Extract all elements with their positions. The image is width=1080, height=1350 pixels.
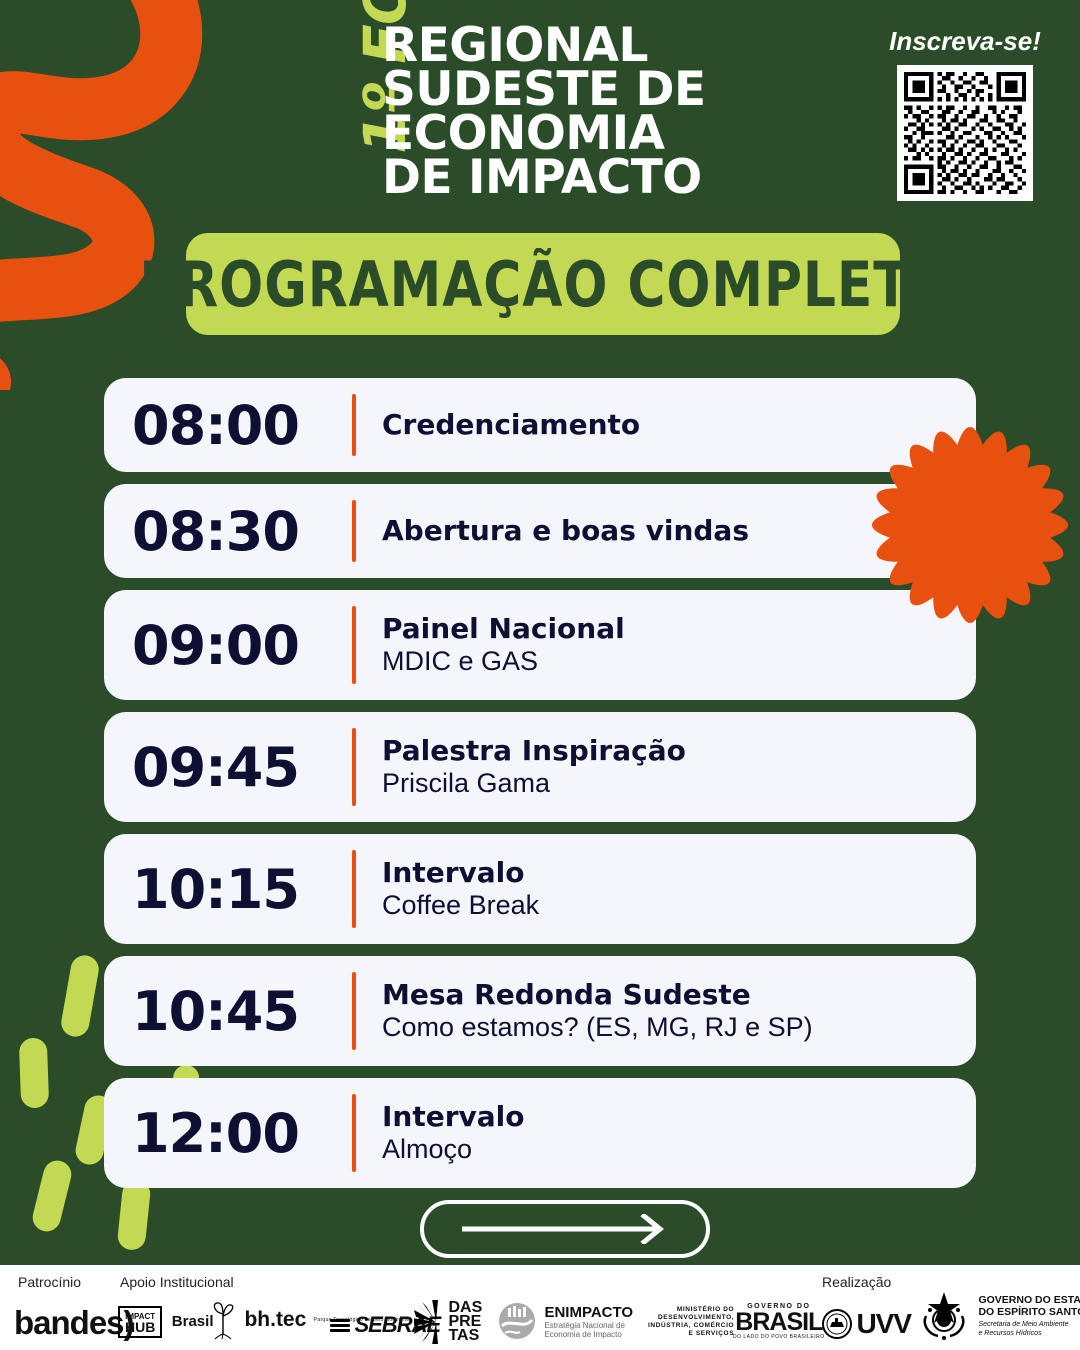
footer-label-support: Apoio Institucional bbox=[120, 1274, 234, 1290]
logo-enimpacto: ENIMPACTO Estratégia Nacional de Economi… bbox=[498, 1302, 633, 1340]
row-texts: Painel Nacional MDIC e GAS bbox=[356, 613, 625, 678]
footer-label-sponsorship: Patrocínio bbox=[18, 1274, 81, 1290]
logo-governo-es-l2: DO ESPÍRITO SANTO bbox=[978, 1306, 1080, 1318]
logo-governo-es: GOVERNO DO ESTADO DO ESPÍRITO SANTO Secr… bbox=[920, 1290, 1080, 1342]
sprout-icon bbox=[206, 1300, 240, 1340]
schedule-row: 09:00 Painel Nacional MDIC e GAS bbox=[104, 590, 976, 700]
row-subtitle: MDIC e GAS bbox=[382, 645, 625, 678]
row-time: 08:30 bbox=[132, 500, 352, 563]
logo-impact-hub-box: IMPACT HUB bbox=[118, 1306, 162, 1338]
lime-pill-4 bbox=[30, 1158, 75, 1235]
row-time: 08:00 bbox=[132, 394, 352, 457]
row-texts: Mesa Redonda Sudeste Como estamos? (ES, … bbox=[356, 979, 813, 1044]
logo-ministerio-l4: E SERVIÇOS bbox=[648, 1330, 734, 1338]
schedule-list: 08:00 Credenciamento 08:30 Abertura e bo… bbox=[104, 378, 976, 1200]
row-title: Abertura e boas vindas bbox=[382, 515, 749, 547]
row-title: Credenciamento bbox=[382, 409, 640, 441]
row-title: Intervalo bbox=[382, 857, 539, 889]
poster-header: 1º FÓRUM REGIONAL SUDESTE DE ECONOMIA DE… bbox=[0, 0, 1080, 215]
sebrae-bars-icon bbox=[330, 1317, 350, 1334]
es-coat-of-arms-icon bbox=[920, 1290, 968, 1342]
logo-governo-main: BRASIL bbox=[733, 1310, 825, 1334]
arrow-right-icon bbox=[458, 1214, 673, 1244]
row-subtitle: Coffee Break bbox=[382, 889, 539, 922]
next-page-button[interactable] bbox=[420, 1200, 710, 1258]
logo-bandes: bandes) bbox=[14, 1304, 135, 1342]
schedule-row: 10:45 Mesa Redonda Sudeste Como estamos?… bbox=[104, 956, 976, 1066]
footer-label-realization: Realização bbox=[822, 1274, 891, 1290]
logo-ministerio-l2: DESENVOLVIMENTO, bbox=[648, 1314, 734, 1322]
row-title: Painel Nacional bbox=[382, 613, 625, 645]
schedule-row: 10:15 Intervalo Coffee Break bbox=[104, 834, 976, 944]
row-texts: Intervalo Almoço bbox=[356, 1101, 525, 1166]
row-texts: Palestra Inspiração Priscila Gama bbox=[356, 735, 686, 800]
row-time: 12:00 bbox=[132, 1102, 352, 1165]
row-time: 09:00 bbox=[132, 614, 352, 677]
logo-bandes-text: bandes bbox=[14, 1304, 124, 1341]
lime-pill-2 bbox=[19, 1038, 49, 1109]
logo-enimpacto-sub2: Economia de Impacto bbox=[544, 1330, 633, 1339]
globe-icon bbox=[498, 1302, 536, 1340]
sunburst-icon bbox=[414, 1300, 444, 1344]
page-title: REGIONAL SUDESTE DE ECONOMIA DE IMPACTO bbox=[382, 24, 802, 200]
uvv-seal-icon bbox=[822, 1309, 852, 1339]
row-subtitle: Almoço bbox=[382, 1133, 525, 1166]
title-line-4: DE IMPACTO bbox=[382, 156, 802, 200]
lime-pill-1 bbox=[59, 953, 101, 1039]
schedule-row: 08:30 Abertura e boas vindas bbox=[104, 484, 976, 578]
schedule-row: 09:45 Palestra Inspiração Priscila Gama bbox=[104, 712, 976, 822]
row-subtitle: Priscila Gama bbox=[382, 767, 686, 800]
footer-logos-bar: Patrocínio Apoio Institucional Realizaçã… bbox=[0, 1265, 1080, 1350]
logo-enimpacto-sub1: Estratégia Nacional de bbox=[544, 1321, 633, 1330]
logo-impact-hub-line2: HUB bbox=[125, 1322, 155, 1333]
logo-ministerio-l3: INDÚSTRIA, COMÉRCIO bbox=[648, 1322, 734, 1330]
banner-label: PROGRAMAÇÃO COMPLETA bbox=[140, 248, 947, 321]
row-texts: Intervalo Coffee Break bbox=[356, 857, 539, 922]
logo-das-pretas: DAS PRE TAS bbox=[414, 1300, 482, 1344]
logo-governo-es-sub2: e Recursos Hídricos bbox=[978, 1329, 1080, 1338]
schedule-row: 08:00 Credenciamento bbox=[104, 378, 976, 472]
logo-uvv: UVV bbox=[822, 1308, 911, 1340]
row-time: 10:15 bbox=[132, 858, 352, 921]
schedule-row: 12:00 Intervalo Almoço bbox=[104, 1078, 976, 1188]
row-title: Mesa Redonda Sudeste bbox=[382, 979, 813, 1011]
row-time: 09:45 bbox=[132, 736, 352, 799]
logo-bhtec-text: bh.tec bbox=[244, 1308, 306, 1331]
logo-governo-brasil: GOVERNO DO BRASIL DO LADO DO POVO BRASIL… bbox=[733, 1303, 825, 1340]
logo-enimpacto-text: ENIMPACTO bbox=[544, 1304, 633, 1321]
row-title: Palestra Inspiração bbox=[382, 735, 686, 767]
qr-code-icon[interactable] bbox=[897, 65, 1033, 201]
row-texts: Abertura e boas vindas bbox=[356, 515, 749, 547]
logo-governo-es-l1: GOVERNO DO ESTADO bbox=[978, 1294, 1080, 1306]
row-title: Intervalo bbox=[382, 1101, 525, 1133]
registration-block[interactable]: Inscreva-se! bbox=[880, 26, 1050, 201]
logo-ministerio-l1: MINISTÉRIO DO bbox=[648, 1306, 734, 1314]
row-time: 10:45 bbox=[132, 980, 352, 1043]
row-subtitle: Como estamos? (ES, MG, RJ e SP) bbox=[382, 1011, 813, 1044]
logo-governo-sub: DO LADO DO POVO BRASILEIRO bbox=[733, 1334, 825, 1340]
logo-impact-hub: IMPACT HUB Brasil bbox=[118, 1306, 214, 1338]
logo-ministerio: MINISTÉRIO DO DESENVOLVIMENTO, INDÚSTRIA… bbox=[648, 1306, 734, 1338]
qr-code-svg bbox=[904, 72, 1026, 194]
logo-das-pretas-l3: TAS bbox=[448, 1329, 482, 1343]
section-banner: PROGRAMAÇÃO COMPLETA bbox=[186, 233, 900, 335]
logo-governo-es-sub1: Secretaria de Meio Ambiente bbox=[978, 1320, 1080, 1329]
row-texts: Credenciamento bbox=[356, 409, 640, 441]
cta-label: Inscreva-se! bbox=[880, 26, 1050, 57]
logo-uvv-text: UVV bbox=[856, 1308, 911, 1339]
